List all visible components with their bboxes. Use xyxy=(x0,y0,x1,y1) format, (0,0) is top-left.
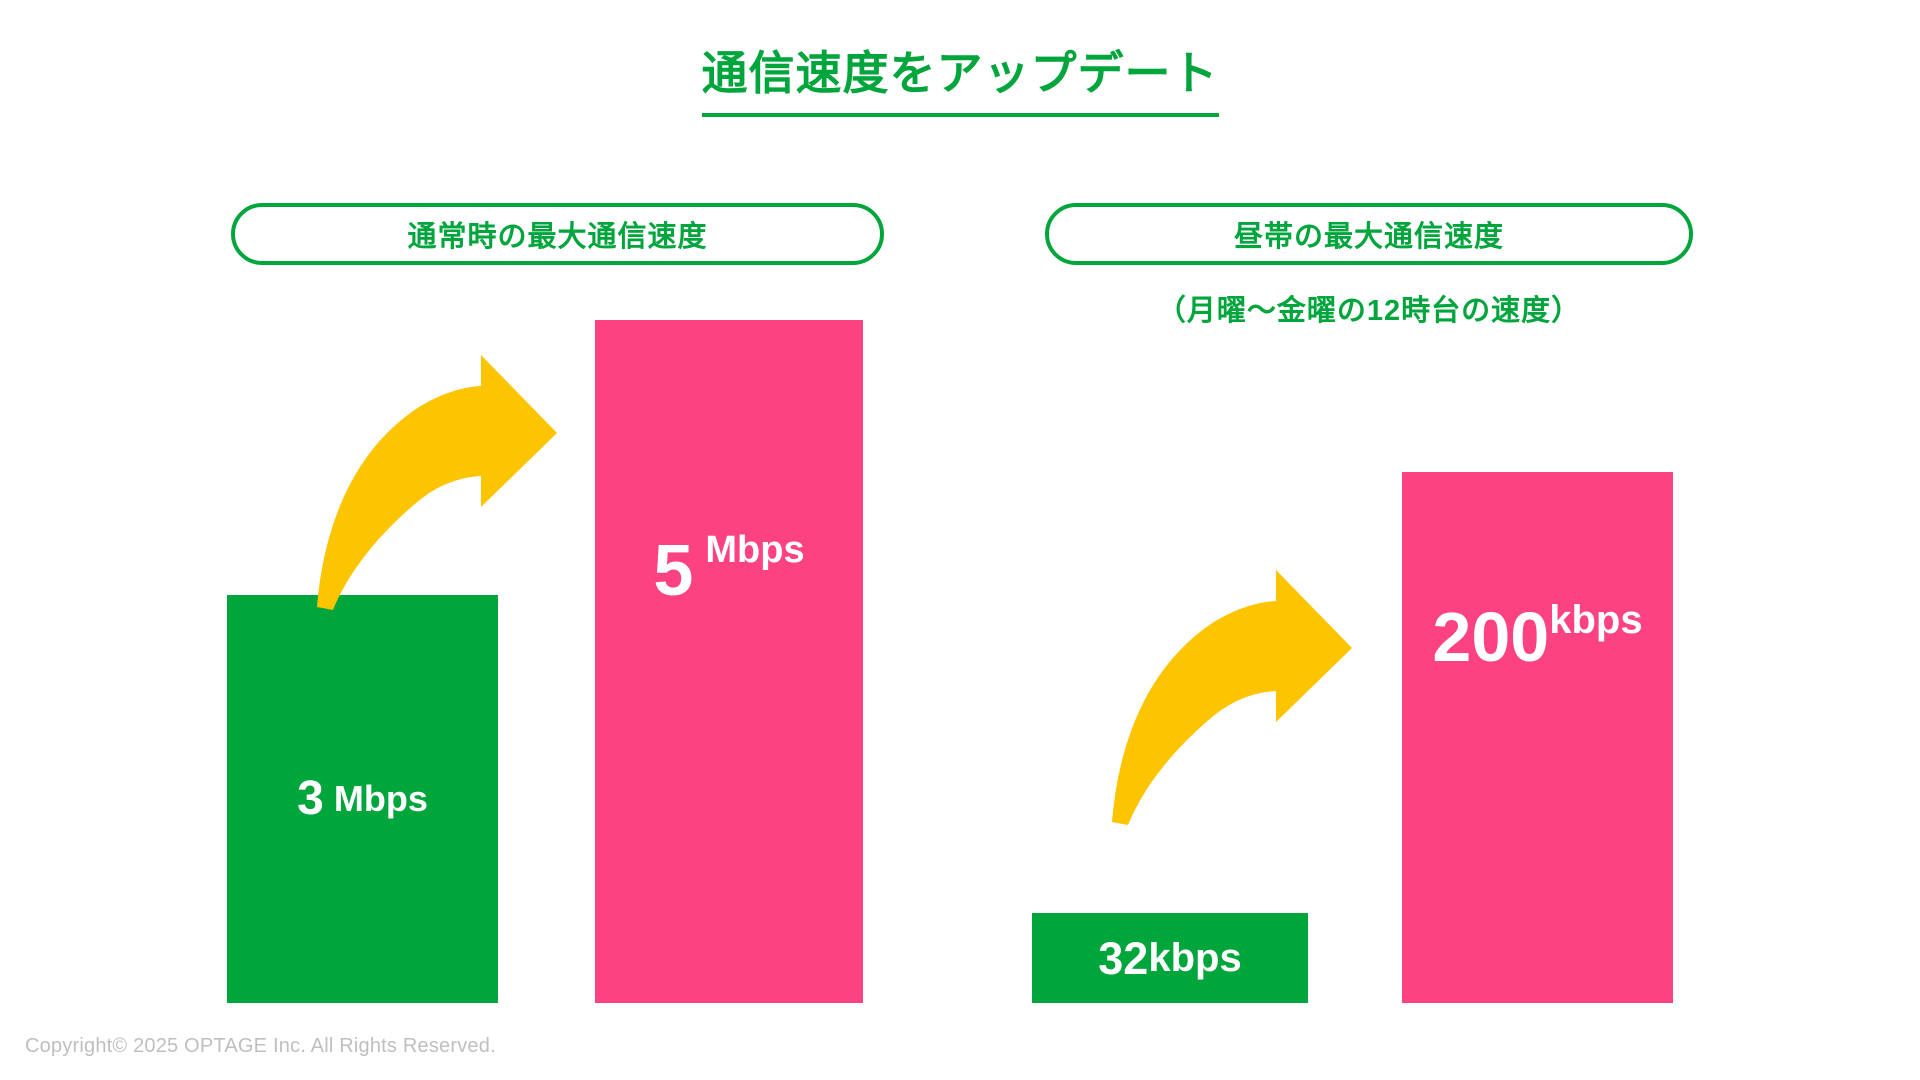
section-header-noon-label: 昼帯の最大通信速度 xyxy=(1234,213,1504,255)
bar-normal-before-unit: Mbps xyxy=(334,781,428,817)
bar-normal-before-value: 3 xyxy=(297,775,324,823)
page-title-text: 通信速度をアップデート xyxy=(702,46,1219,117)
bar-normal-before: 3 Mbps xyxy=(227,595,498,1003)
bar-normal-after-unit: Mbps xyxy=(705,531,804,569)
bar-normal-after-value: 5 xyxy=(653,535,693,607)
bar-noon-before-value: 32 xyxy=(1098,936,1148,981)
bar-noon-after-unit: kbps xyxy=(1549,600,1642,640)
bar-noon-after-value: 200 xyxy=(1432,602,1549,672)
curved-arrow-up-right-icon xyxy=(1090,560,1360,830)
section-header-normal: 通常時の最大通信速度 xyxy=(231,203,884,265)
bar-noon-before: 32 kbps xyxy=(1032,913,1308,1003)
bar-noon-before-unit: kbps xyxy=(1148,938,1241,978)
bar-noon-after: 200 kbps xyxy=(1402,472,1673,1003)
curved-arrow-up-right-icon xyxy=(295,345,565,615)
bar-normal-after: 5 Mbps xyxy=(595,320,863,1003)
copyright-footer: Copyright© 2025 OPTAGE Inc. All Rights R… xyxy=(25,1035,496,1058)
section-header-normal-label: 通常時の最大通信速度 xyxy=(407,213,707,255)
page-title: 通信速度をアップデート xyxy=(0,46,1920,117)
section-header-noon: 昼帯の最大通信速度 xyxy=(1045,203,1693,265)
slide-canvas: 通信速度をアップデート 通常時の最大通信速度 昼帯の最大通信速度 （月曜〜金曜の… xyxy=(0,0,1920,1080)
section-subnote-noon: （月曜〜金曜の12時台の速度） xyxy=(1045,287,1693,329)
